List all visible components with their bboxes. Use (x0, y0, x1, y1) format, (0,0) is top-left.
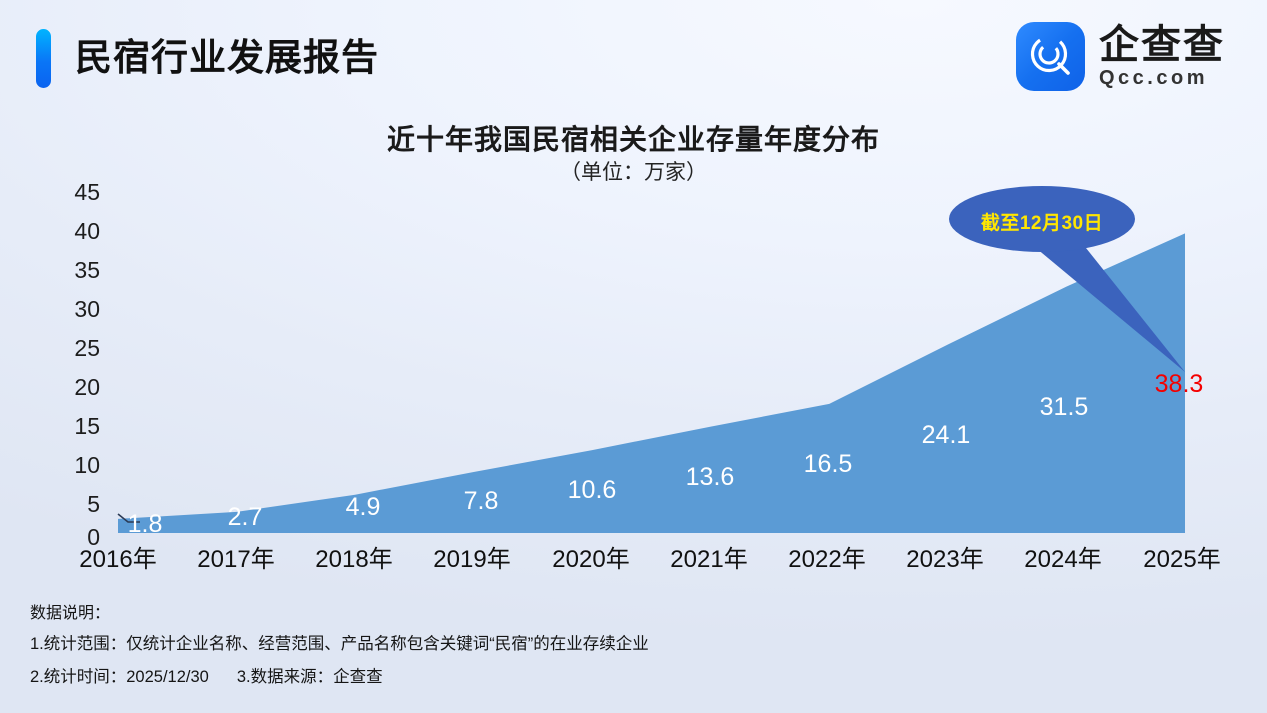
x-tick-label: 2016年 (60, 548, 176, 572)
data-label: 2.7 (200, 505, 290, 530)
y-tick-label: 15 (52, 415, 100, 438)
data-label: 13.6 (665, 465, 755, 490)
y-tick-label: 5 (52, 493, 100, 516)
data-label: 7.8 (436, 489, 526, 514)
data-label: 1.8 (100, 512, 190, 537)
chart-title: 近十年我国民宿相关企业存量年度分布 (0, 118, 1267, 158)
y-tick-label: 30 (52, 298, 100, 321)
data-label: 4.9 (318, 495, 408, 520)
y-tick-label: 45 (52, 181, 100, 204)
series-area-path (118, 233, 1185, 533)
data-label: 16.5 (783, 452, 873, 477)
data-label: 24.1 (901, 423, 991, 448)
x-tick-label: 2024年 (1005, 548, 1121, 572)
data-label: 31.5 (1019, 395, 1109, 420)
footnote-time-source: 2.统计时间：2025/12/303.数据来源：企查查 (30, 661, 649, 694)
data-label: 10.6 (547, 478, 637, 503)
y-tick-label: 40 (52, 220, 100, 243)
footnotes: 数据说明： 1.统计范围：仅统计企业名称、经营范围、产品名称包含关键词“民宿”的… (30, 600, 649, 694)
x-tick-label: 2018年 (296, 548, 412, 572)
footnote-time: 2.统计时间：2025/12/30 (30, 668, 209, 686)
title-accent-bar (36, 29, 51, 88)
qcc-logo-icon (1016, 22, 1085, 91)
page-title: 民宿行业发展报告 (75, 28, 379, 88)
chart-area-series (118, 233, 1185, 533)
y-tick-label: 20 (52, 376, 100, 399)
footnote-source: 3.数据来源：企查查 (237, 668, 383, 686)
page-header: 民宿行业发展报告 企查查 Qcc.com (0, 0, 1267, 112)
brand-name-en: Qcc.com (1099, 68, 1225, 88)
report-page: 民宿行业发展报告 企查查 Qcc.com 近十年我国民宿相关企业存量年度分布 （… (0, 0, 1267, 713)
x-tick-label: 2019年 (414, 548, 530, 572)
y-tick-label: 35 (52, 259, 100, 282)
brand-wordmark: 企查查 Qcc.com (1099, 25, 1225, 88)
x-tick-label: 2021年 (651, 548, 767, 572)
x-tick-label: 2020年 (533, 548, 649, 572)
brand-name-cn: 企查查 (1099, 25, 1225, 65)
chart-subtitle: （单位：万家） (0, 156, 1267, 186)
data-label-highlight: 38.3 (1134, 372, 1224, 397)
footnote-heading: 数据说明： (30, 600, 649, 628)
footnote-scope: 1.统计范围：仅统计企业名称、经营范围、产品名称包含关键词“民宿”的在业存续企业 (30, 628, 649, 661)
y-tick-label: 10 (52, 454, 100, 477)
y-tick-label: 25 (52, 337, 100, 360)
callout-tail (1036, 243, 1185, 372)
brand-logo: 企查查 Qcc.com (1016, 21, 1225, 91)
x-tick-label: 2022年 (769, 548, 885, 572)
x-tick-label: 2023年 (887, 548, 1003, 572)
callout-label: 截至12月30日 (962, 208, 1122, 235)
x-tick-label: 2017年 (178, 548, 294, 572)
x-tick-label: 2025年 (1124, 548, 1240, 572)
